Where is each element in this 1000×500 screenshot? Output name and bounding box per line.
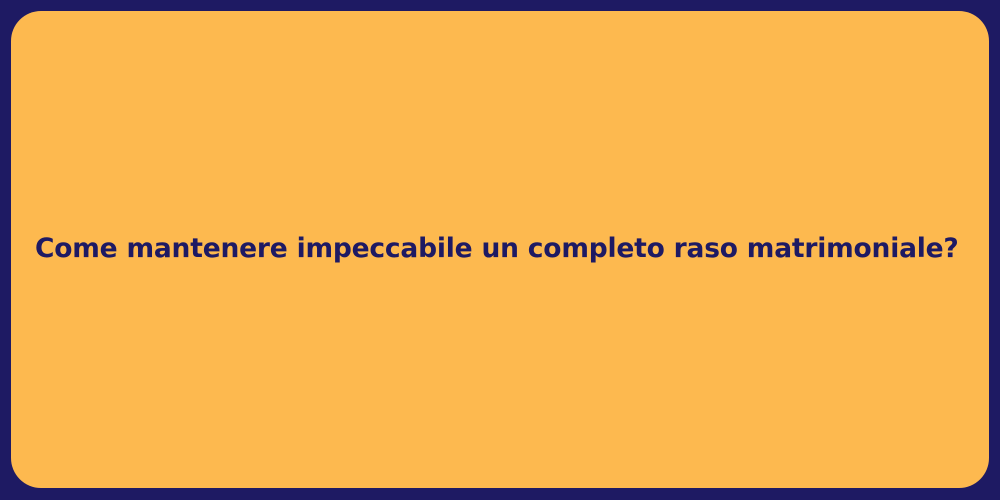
page-title: Come mantenere impeccabile un completo r… [35, 233, 965, 265]
card-frame: Come mantenere impeccabile un completo r… [0, 0, 1000, 500]
card-panel: Come mantenere impeccabile un completo r… [11, 11, 989, 488]
